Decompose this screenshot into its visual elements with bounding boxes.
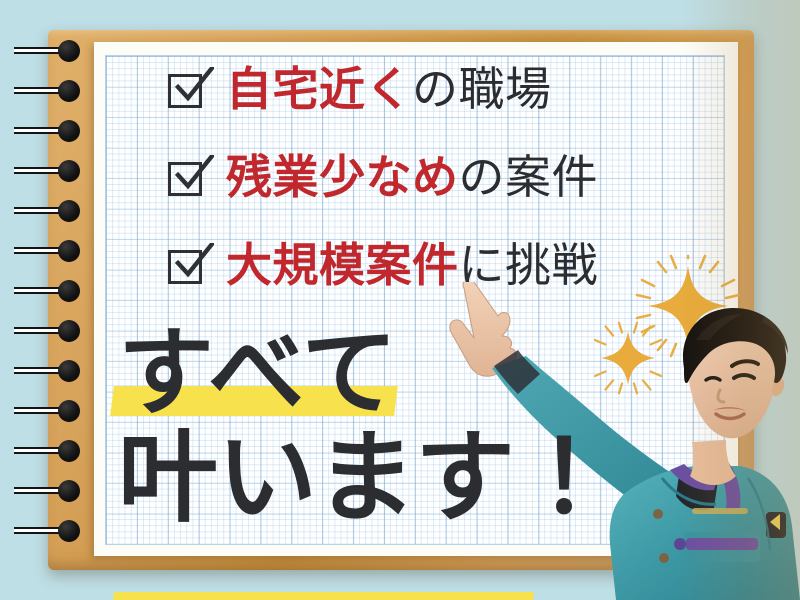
headline-line-2: 叶います！ bbox=[118, 426, 613, 530]
checkbox-checked-icon[interactable] bbox=[168, 156, 210, 198]
spiral-ring-head bbox=[58, 440, 80, 462]
checkmark-icon bbox=[172, 67, 214, 109]
checklist-item-emphasis: 残業少なめ bbox=[226, 151, 459, 203]
checklist-item-suffix: の職場 bbox=[412, 63, 552, 115]
checklist-item-emphasis: 大規模案件 bbox=[226, 239, 459, 291]
spiral-ring-head bbox=[58, 200, 80, 222]
headline-line-2-row: 叶います！ bbox=[118, 426, 588, 530]
checklist-item-suffix: の案件 bbox=[459, 151, 599, 203]
checkbox-checked-icon[interactable] bbox=[168, 68, 210, 110]
checklist-item-emphasis: 自宅近く bbox=[226, 63, 412, 115]
banner-canvas: 自宅近くの職場残業少なめの案件大規模案件に挑戦 すべて 叶います！ bbox=[0, 0, 800, 600]
checklist-item[interactable]: 自宅近くの職場 bbox=[168, 58, 688, 146]
spiral-ring-head bbox=[58, 160, 80, 182]
checkmark-icon bbox=[172, 243, 214, 285]
checklist-item[interactable]: 残業少なめの案件 bbox=[168, 146, 688, 234]
spiral-ring-head bbox=[58, 480, 80, 502]
checklist-item-text: 自宅近くの職場 bbox=[226, 58, 552, 120]
checkmark-icon bbox=[172, 155, 214, 197]
spiral-ring-head bbox=[58, 280, 80, 302]
spiral-ring-head bbox=[58, 520, 80, 542]
checklist-item-text: 残業少なめの案件 bbox=[226, 146, 598, 208]
headline-line-1: すべて bbox=[118, 322, 398, 426]
spiral-ring-head bbox=[58, 400, 80, 422]
checkbox-checked-icon[interactable] bbox=[168, 244, 210, 286]
spiral-ring-head bbox=[58, 120, 80, 142]
spiral-binding bbox=[0, 30, 120, 570]
spiral-ring-head bbox=[58, 240, 80, 262]
spiral-ring-head bbox=[58, 80, 80, 102]
spiral-ring-head bbox=[58, 40, 80, 62]
highlighter-band-2 bbox=[110, 592, 534, 600]
spiral-ring-head bbox=[58, 360, 80, 382]
spiral-ring-head bbox=[58, 320, 80, 342]
